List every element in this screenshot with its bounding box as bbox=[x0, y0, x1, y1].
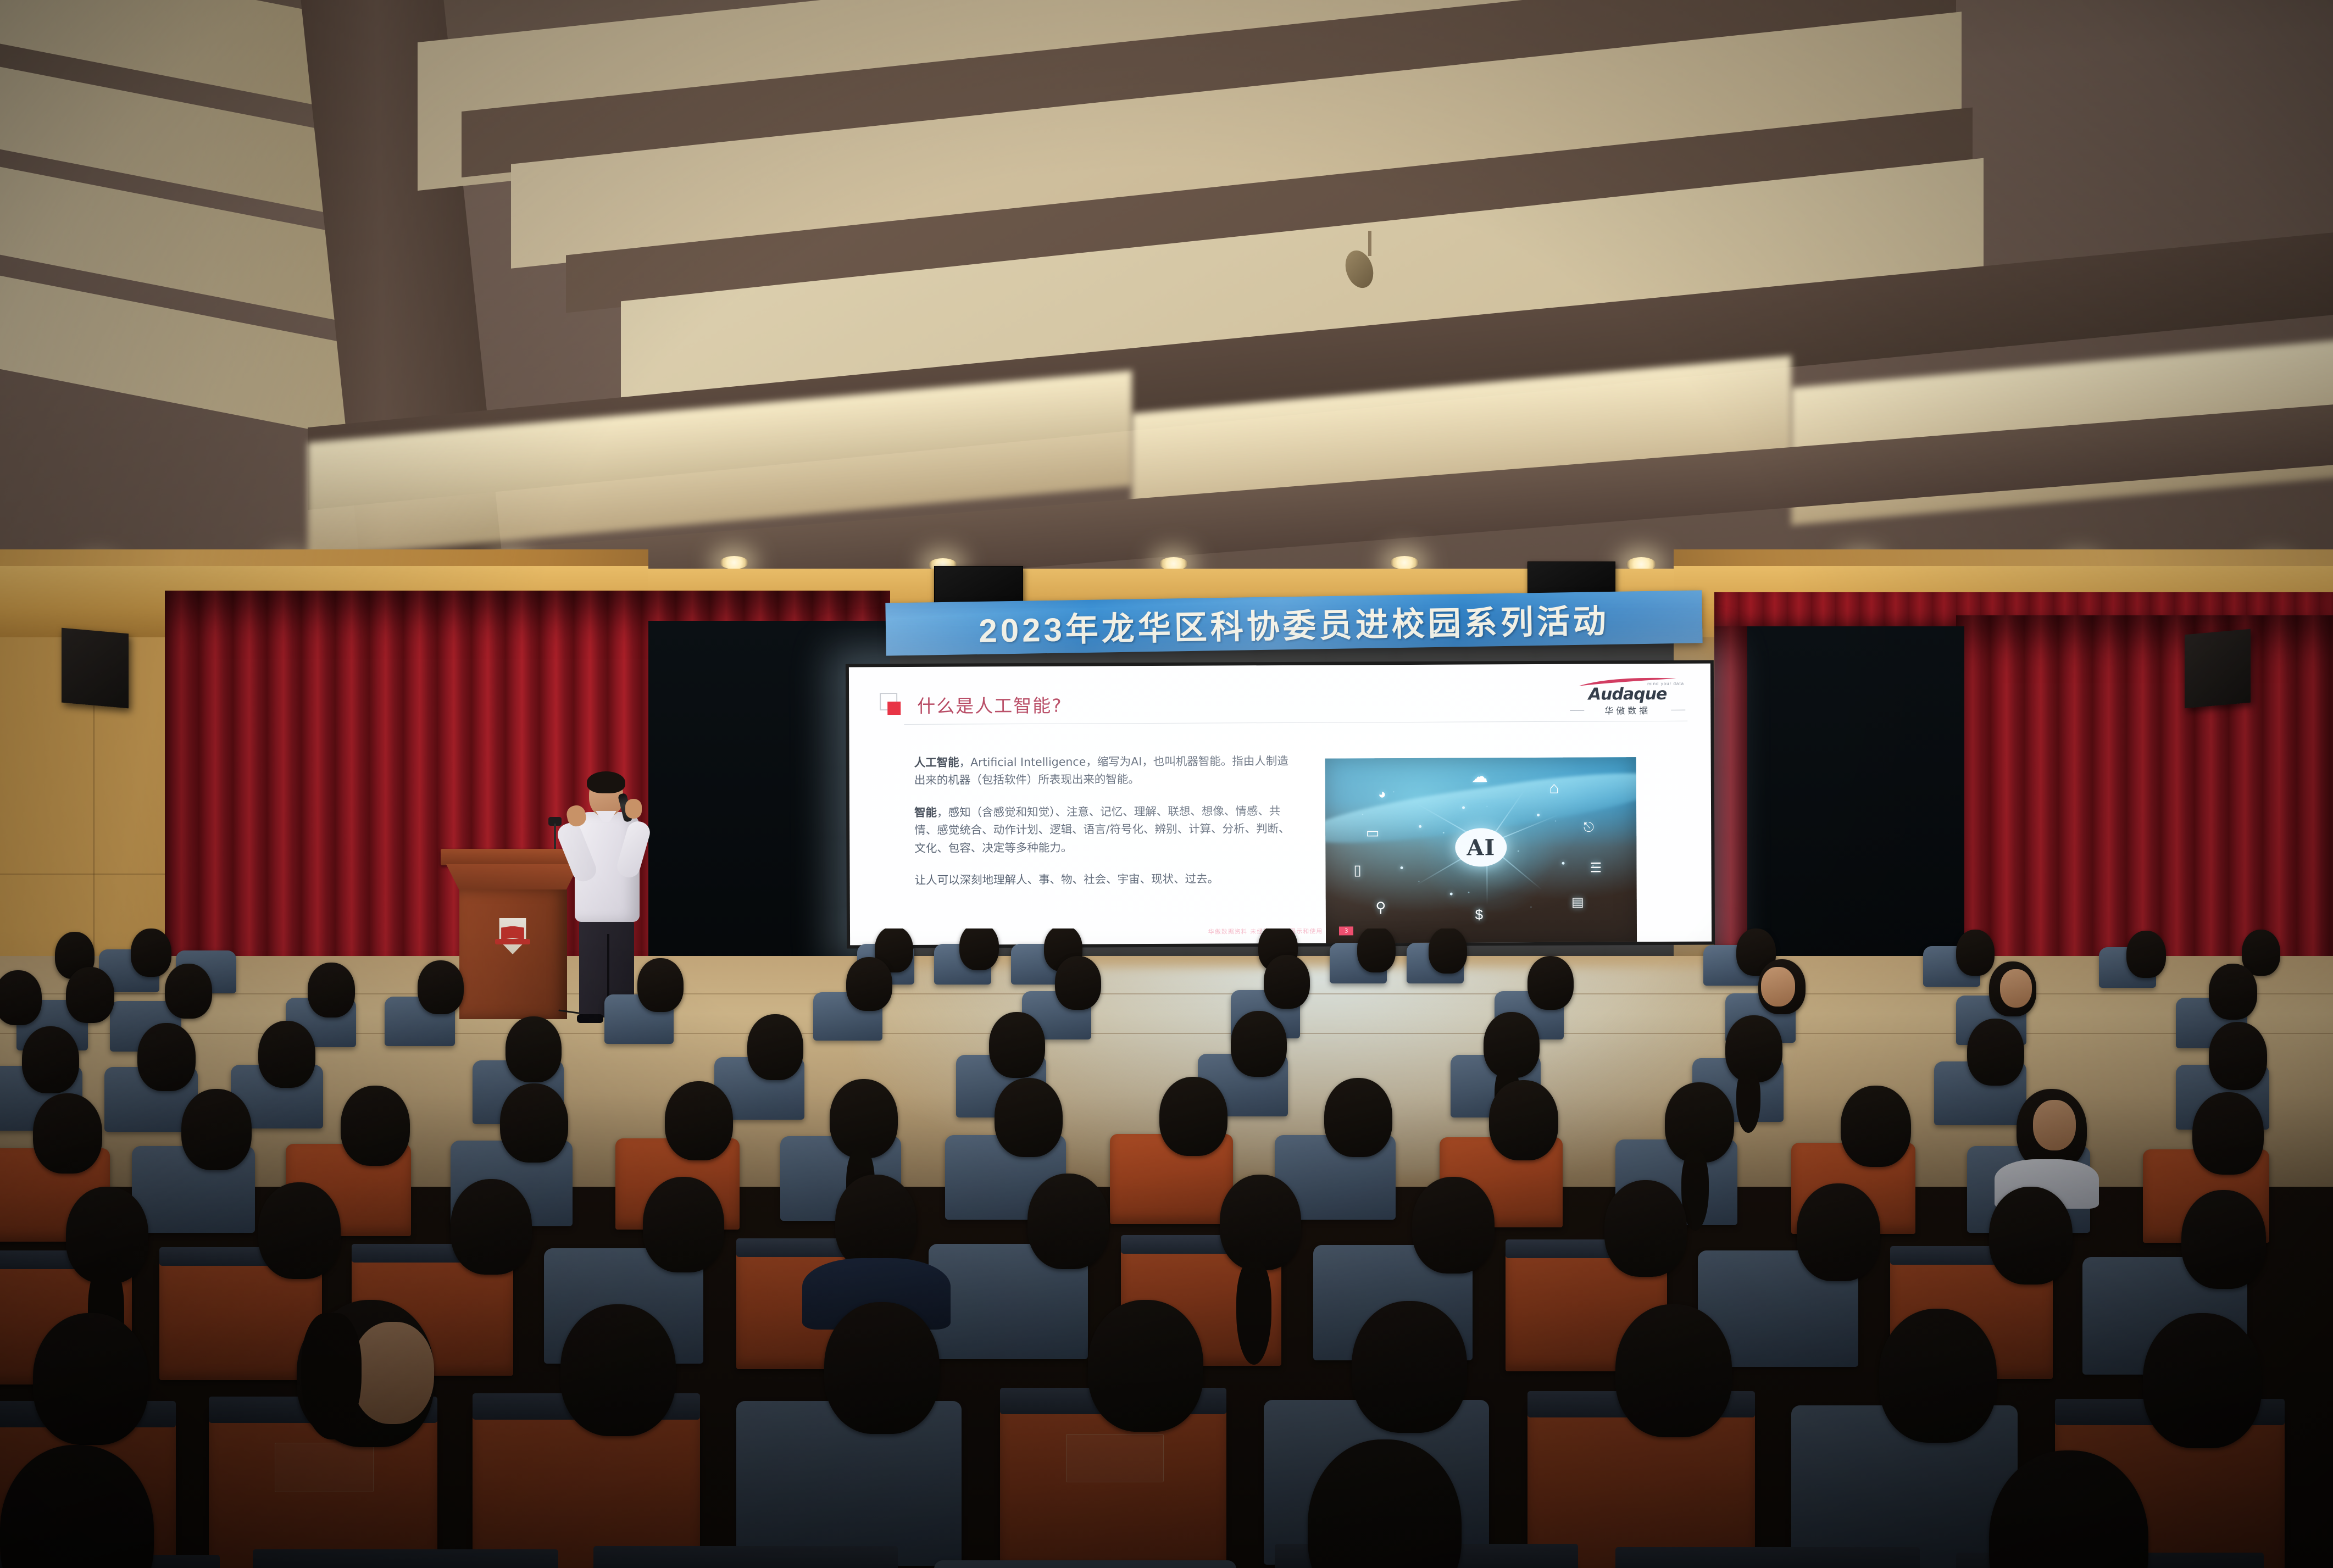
student-head bbox=[1489, 1080, 1558, 1160]
student-head bbox=[824, 1302, 940, 1434]
dollar-icon: $ bbox=[1475, 907, 1483, 921]
slide-paragraph-3: 让人可以深刻地理解人、事、物、社会、宇宙、现状、过去。 bbox=[915, 870, 1294, 889]
student-head bbox=[2209, 964, 2257, 1020]
student-head bbox=[500, 1083, 568, 1163]
projection-screen: 什么是人工智能? mind your data Audaque 华傲数据 人工智… bbox=[846, 660, 1715, 949]
student-head bbox=[1264, 955, 1310, 1009]
student-head bbox=[1604, 1180, 1687, 1277]
brand-logo: mind your data Audaque 华傲数据 bbox=[1568, 676, 1687, 717]
student-head bbox=[1352, 1301, 1467, 1433]
student-head bbox=[1088, 1300, 1203, 1432]
student-head bbox=[2209, 1022, 2267, 1090]
student-face bbox=[2000, 969, 2032, 1008]
student-head bbox=[995, 1078, 1063, 1157]
slide-paragraph-2: 智能，感知（含感觉和知觉）、注意、记忆、理解、联想、想像、情感、共情、感觉统合、… bbox=[914, 802, 1293, 857]
seat-armrest bbox=[593, 1546, 898, 1568]
slide-illustration: AI ☁ ◕ ▭ ▯ ⚲ $ ⌂ ⎋ ☰ ▤ bbox=[1325, 757, 1637, 945]
coffered-ceiling bbox=[0, 0, 2333, 582]
student-head bbox=[989, 1012, 1045, 1078]
student-head bbox=[418, 960, 464, 1014]
student-head bbox=[1989, 1187, 2073, 1285]
student-face bbox=[1761, 967, 1795, 1007]
ai-badge: AI bbox=[1455, 828, 1507, 866]
student-head bbox=[1797, 1183, 1880, 1281]
student-head bbox=[1527, 956, 1574, 1010]
student-head bbox=[1220, 1175, 1301, 1270]
student-head bbox=[1159, 1077, 1227, 1156]
student-head bbox=[1324, 1078, 1392, 1157]
event-banner-text: 2023年龙华区科协委员进校园系列活动 bbox=[979, 594, 1610, 652]
student-hair-side bbox=[301, 1313, 362, 1439]
student-head bbox=[1879, 1309, 1997, 1443]
slide-title-marker-icon bbox=[880, 693, 903, 717]
student-head bbox=[830, 1079, 898, 1158]
student-head bbox=[560, 1304, 676, 1436]
student-head bbox=[2192, 1092, 2264, 1175]
student-head bbox=[2126, 931, 2166, 978]
slide-paragraph-1: 人工智能，Artificial Intelligence，缩写为AI，也叫机器智… bbox=[914, 752, 1293, 789]
student-head bbox=[258, 1182, 341, 1279]
student-head bbox=[451, 1179, 532, 1275]
car-icon: ⎋ bbox=[1584, 821, 1594, 834]
slide-p2-lead: 智能 bbox=[914, 805, 937, 819]
student-head bbox=[1027, 1174, 1109, 1269]
student-head bbox=[1055, 956, 1101, 1010]
student-head bbox=[637, 958, 684, 1012]
ceiling-downlight bbox=[720, 556, 748, 569]
student-face bbox=[352, 1322, 434, 1424]
wall-speaker-left bbox=[62, 628, 129, 709]
ceiling-hanging-fixture bbox=[1368, 231, 1371, 256]
network-node bbox=[1400, 866, 1403, 869]
cloud-icon: ☁ bbox=[1471, 769, 1488, 786]
laptop-icon: ▭ bbox=[1366, 826, 1380, 840]
seat-number-plate bbox=[275, 1443, 374, 1492]
student-head bbox=[33, 1093, 102, 1174]
house-icon: ⌂ bbox=[1549, 780, 1559, 797]
student-head bbox=[137, 1023, 196, 1091]
seat-armrest bbox=[1615, 1547, 1920, 1568]
student-head bbox=[1429, 928, 1467, 974]
student-head bbox=[0, 970, 42, 1025]
student-ponytail bbox=[1236, 1260, 1271, 1365]
slide-p1-lead: 人工智能 bbox=[914, 756, 959, 769]
slide-title: 什么是人工智能? bbox=[917, 691, 1063, 718]
student-head bbox=[2143, 1313, 2262, 1448]
presentation-slide: 什么是人工智能? mind your data Audaque 华傲数据 人工智… bbox=[849, 664, 1712, 946]
student-head bbox=[1841, 1086, 1911, 1167]
student-head bbox=[66, 967, 114, 1023]
student-head bbox=[1967, 1019, 2024, 1086]
student-head bbox=[22, 1026, 79, 1093]
slide-p3-text: 让人可以深刻地理解人、事、物、社会、宇宙、现状、过去。 bbox=[915, 872, 1219, 886]
slide-p2-text: ，感知（含感觉和知觉）、注意、记忆、理解、联想、想像、情感、共情、感觉统合、动作… bbox=[914, 804, 1290, 855]
student-head bbox=[2181, 1190, 2266, 1289]
student-head bbox=[665, 1081, 733, 1160]
student-head bbox=[835, 1175, 916, 1270]
ceiling-downlight bbox=[1390, 556, 1419, 569]
wall-speaker-right bbox=[2185, 629, 2251, 708]
podium-slope bbox=[446, 864, 579, 891]
student-face bbox=[2033, 1100, 2076, 1150]
auditorium-scene: 2023年龙华区科协委员进校园系列活动 什么是人工智能? mind your d… bbox=[0, 0, 2333, 1568]
audience-area bbox=[0, 928, 2333, 1568]
student-head bbox=[1412, 1177, 1495, 1274]
student-head bbox=[643, 1177, 724, 1272]
slide-body: 人工智能，Artificial Intelligence，缩写为AI，也叫机器智… bbox=[914, 752, 1294, 903]
student-head bbox=[506, 1016, 562, 1082]
network-node bbox=[1537, 814, 1540, 816]
slide-p1-text: ，Artificial Intelligence，缩写为AI，也叫机器智能。指由… bbox=[914, 754, 1288, 787]
brand-chinese-name: 华傲数据 bbox=[1568, 703, 1687, 717]
wifi-icon: ◕ bbox=[1378, 788, 1386, 802]
location-pin-icon: ⚲ bbox=[1375, 900, 1386, 915]
brand-wordmark: Audaque bbox=[1568, 685, 1687, 704]
podium-microphone-stand bbox=[554, 824, 556, 852]
student-head bbox=[959, 928, 999, 970]
student-head bbox=[33, 1313, 148, 1445]
student-head bbox=[1357, 928, 1396, 972]
student-head bbox=[1615, 1304, 1732, 1437]
student-head bbox=[1231, 1011, 1287, 1077]
shopping-cart-icon: ▤ bbox=[1571, 896, 1584, 909]
student-ponytail bbox=[1736, 1069, 1760, 1133]
presenter-hair bbox=[587, 771, 625, 793]
student-head bbox=[258, 1021, 315, 1088]
student-head bbox=[165, 964, 212, 1019]
student-head bbox=[1956, 930, 1995, 976]
book-icon: ☰ bbox=[1590, 862, 1602, 875]
student-head bbox=[846, 957, 892, 1011]
student-head bbox=[131, 928, 171, 977]
seat-armrest bbox=[253, 1549, 558, 1568]
student-head bbox=[181, 1089, 252, 1170]
student-head bbox=[341, 1086, 410, 1166]
seat-back bbox=[934, 1560, 1236, 1568]
student-head bbox=[747, 1014, 803, 1080]
student-head bbox=[308, 963, 355, 1017]
seat-number-plate bbox=[1066, 1434, 1164, 1482]
presenter-hand-right bbox=[625, 799, 642, 819]
smartphone-icon: ▯ bbox=[1353, 863, 1361, 877]
